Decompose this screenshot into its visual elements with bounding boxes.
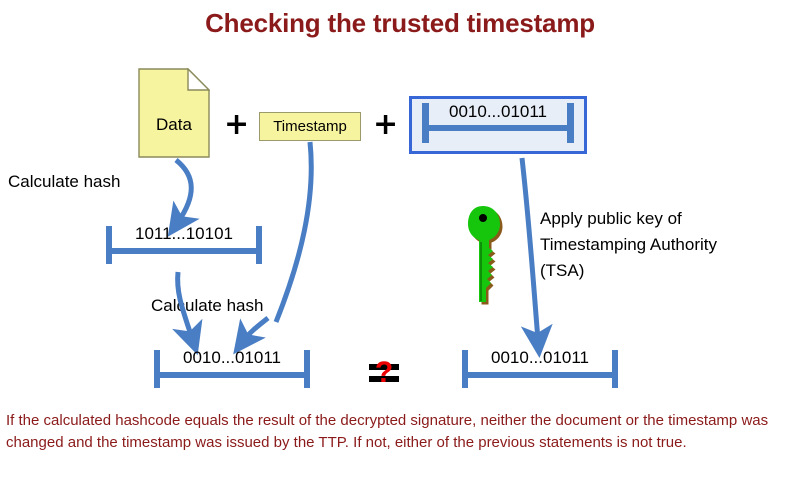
calculate-hash-label-1: Calculate hash <box>8 172 120 192</box>
apply-key-line-1: Apply public key of <box>540 206 717 232</box>
arrow-timestamp-to-calculated-hash <box>244 318 268 340</box>
plus-operator-1: + <box>224 110 249 140</box>
data-document-label: Data <box>138 115 210 135</box>
public-key-icon <box>462 202 506 310</box>
timestamp-box-label: Timestamp <box>273 118 347 135</box>
diagram-canvas: Checking the trusted timestamp Data + + … <box>0 0 800 479</box>
decrypted-signature-bracket: 0010...01011 <box>460 348 620 394</box>
line-timestamp-to-calculate-hash <box>276 142 311 322</box>
signature-box: 0010...01011 <box>409 96 587 154</box>
arrow-signature-to-decrypted <box>522 158 538 340</box>
signature-value: 0010...01011 <box>412 102 584 122</box>
calculated-hash-value: 0010...01011 <box>152 348 312 368</box>
equals-question-icon: ? <box>366 350 402 392</box>
calculated-hash-bracket: 0010...01011 <box>152 348 312 394</box>
document-hash-value: 1011...10101 <box>104 224 264 244</box>
plus-operator-2: + <box>373 110 398 140</box>
decrypted-signature-value: 0010...01011 <box>460 348 620 368</box>
arrow-document-to-hash <box>176 160 191 222</box>
apply-public-key-label: Apply public key of Timestamping Authori… <box>540 206 717 284</box>
caption-text: If the calculated hashcode equals the re… <box>6 410 796 454</box>
data-document: Data <box>138 68 210 158</box>
timestamp-box: Timestamp <box>259 112 361 141</box>
apply-key-line-3: (TSA) <box>540 258 717 284</box>
svg-text:?: ? <box>375 356 393 389</box>
document-hash-bracket: 1011...10101 <box>104 224 264 270</box>
apply-key-line-2: Timestamping Authority <box>540 232 717 258</box>
document-icon <box>138 68 210 158</box>
page-title: Checking the trusted timestamp <box>0 8 800 39</box>
calculate-hash-label-2: Calculate hash <box>151 296 263 316</box>
